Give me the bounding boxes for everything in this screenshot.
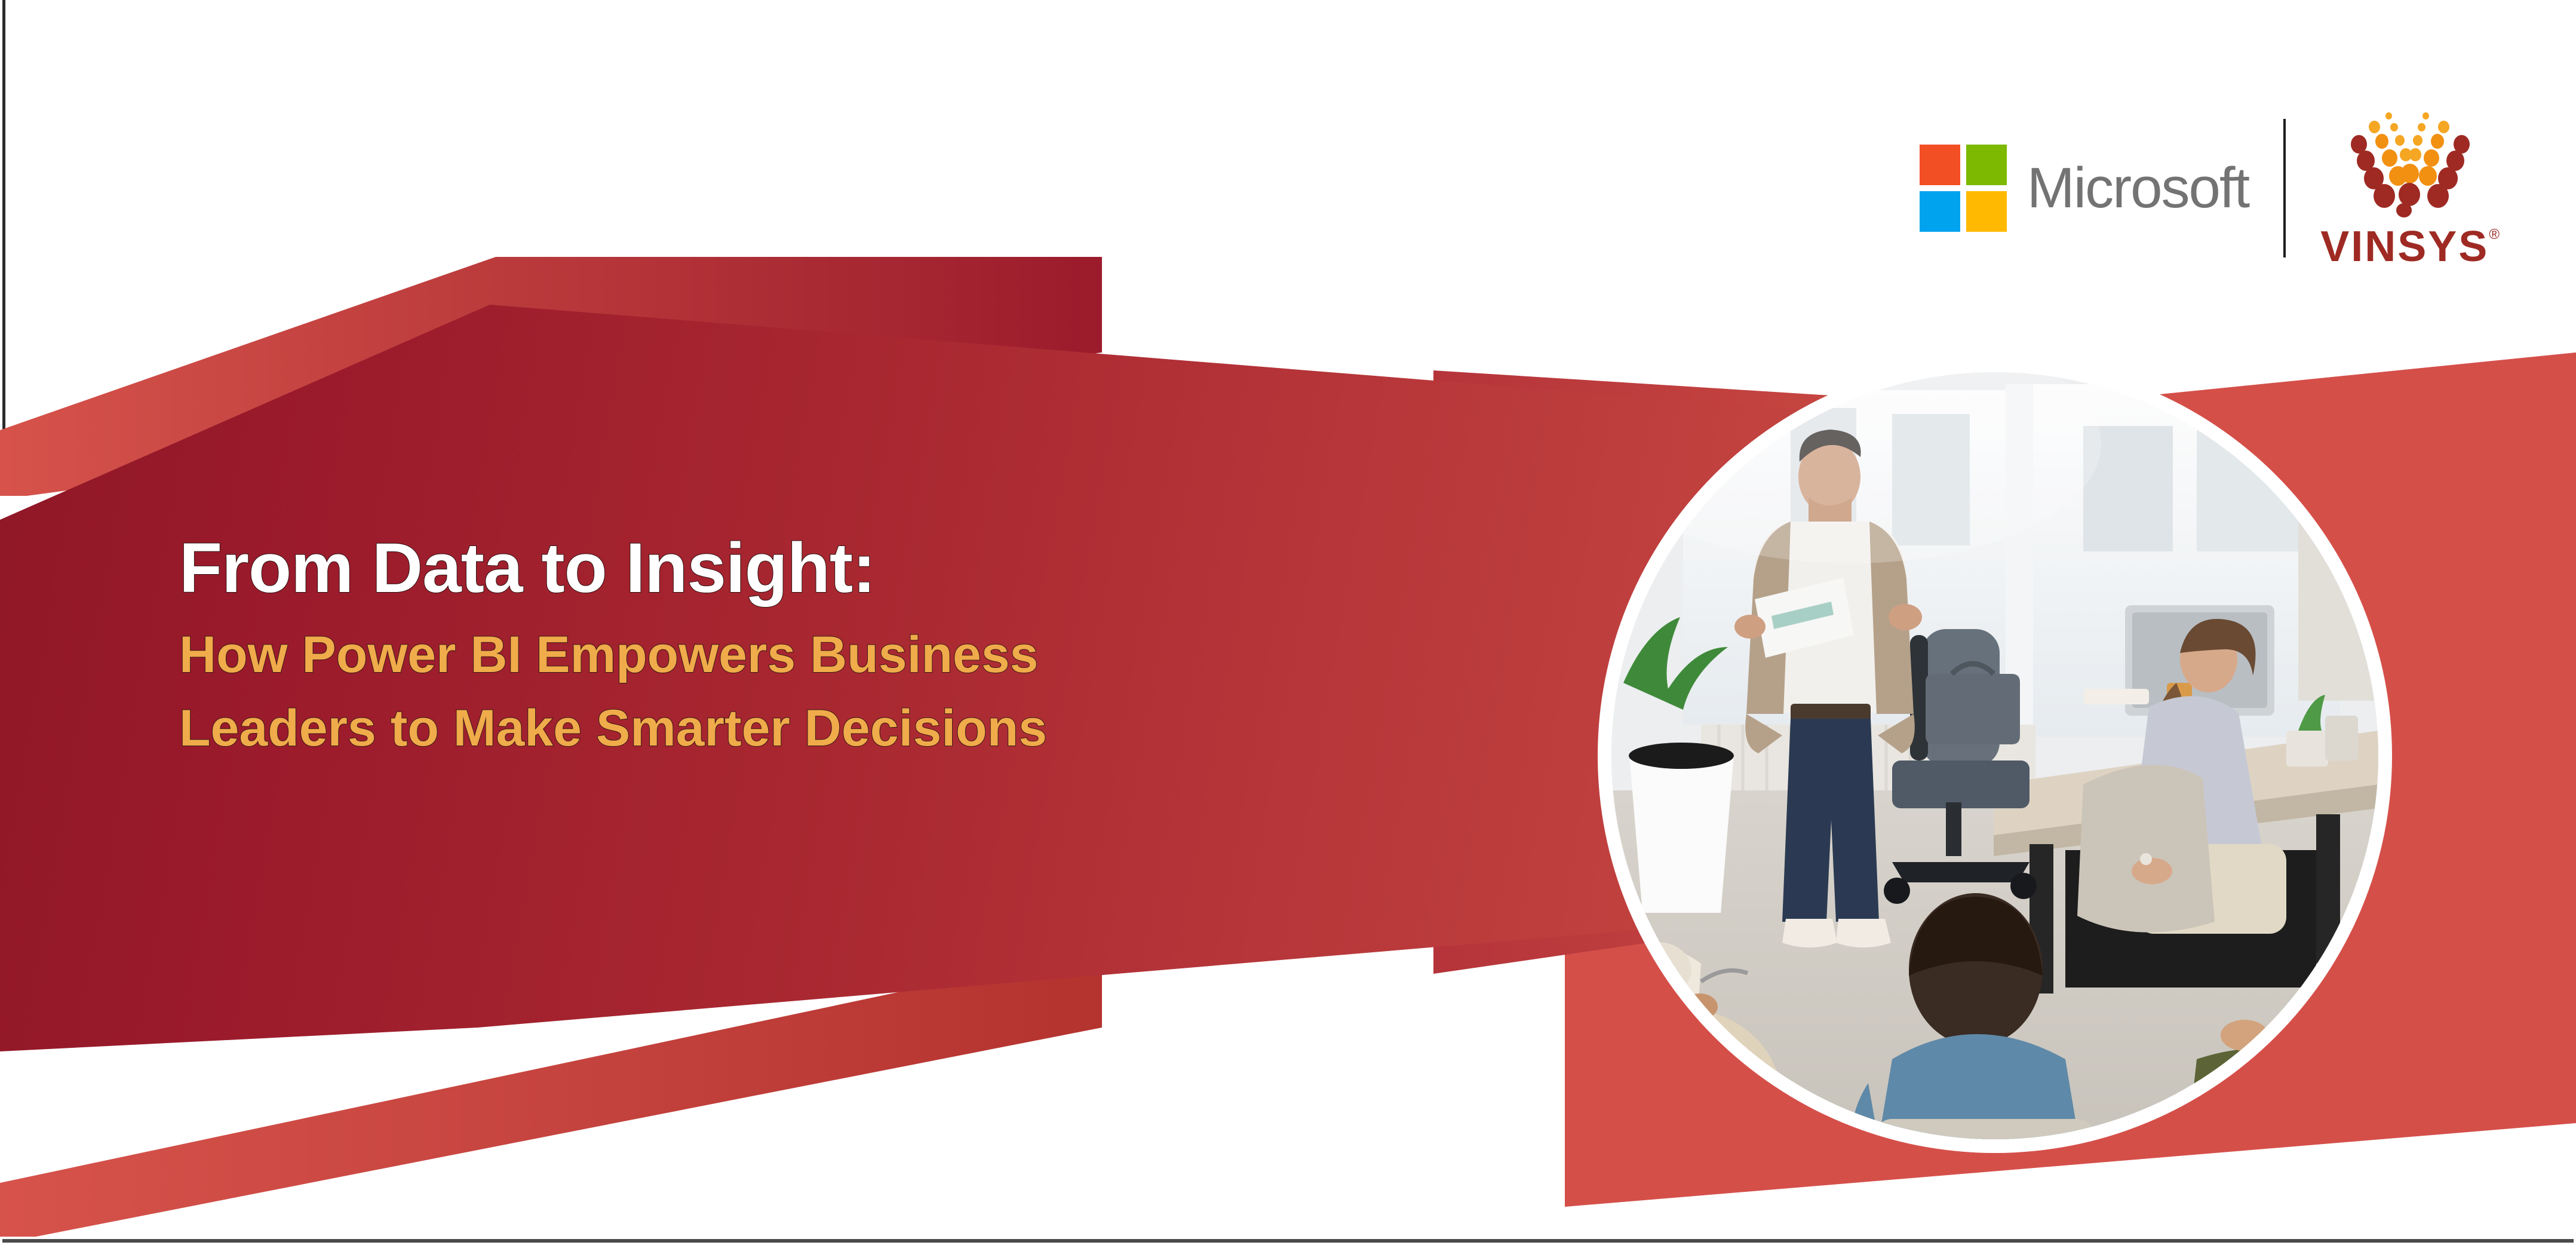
yellow-square-icon xyxy=(1966,191,2007,232)
page-edge-bottom xyxy=(2,1239,2574,1243)
photo-circle xyxy=(1611,372,2378,1139)
page-title: From Data to Insight: xyxy=(179,532,1553,606)
office-meeting-photo xyxy=(1611,372,2378,1139)
vinsys-wordmark-i: I xyxy=(2351,225,2365,268)
headline-block: From Data to Insight: How Power BI Empow… xyxy=(179,532,1553,774)
page-edge-left xyxy=(2,0,5,467)
logo-divider xyxy=(2283,119,2286,257)
green-square-icon xyxy=(1966,145,2007,185)
microsoft-squares-icon xyxy=(1920,145,2007,232)
vinsys-v-dots-icon xyxy=(2347,108,2473,218)
microsoft-logo: Microsoft xyxy=(1920,145,2249,232)
subtitle-line-2: Leaders to Make Smarter Decisions xyxy=(179,701,1553,756)
blue-square-icon xyxy=(1920,191,1960,232)
vinsys-wordmark-suffix: NSYS xyxy=(2365,225,2489,268)
vinsys-logo: V I NSYS ® xyxy=(2320,108,2500,268)
registered-mark-icon: ® xyxy=(2489,228,2500,242)
red-square-icon xyxy=(1920,145,1960,185)
vinsys-wordmark: V I NSYS ® xyxy=(2320,225,2500,268)
logo-bar: Microsoft xyxy=(1920,108,2500,268)
marketing-banner: From Data to Insight: How Power BI Empow… xyxy=(0,0,2576,1245)
subtitle-line-1: How Power BI Empowers Business xyxy=(179,627,1553,683)
vinsys-wordmark-prefix: V xyxy=(2320,225,2351,268)
microsoft-wordmark: Microsoft xyxy=(2027,160,2249,217)
